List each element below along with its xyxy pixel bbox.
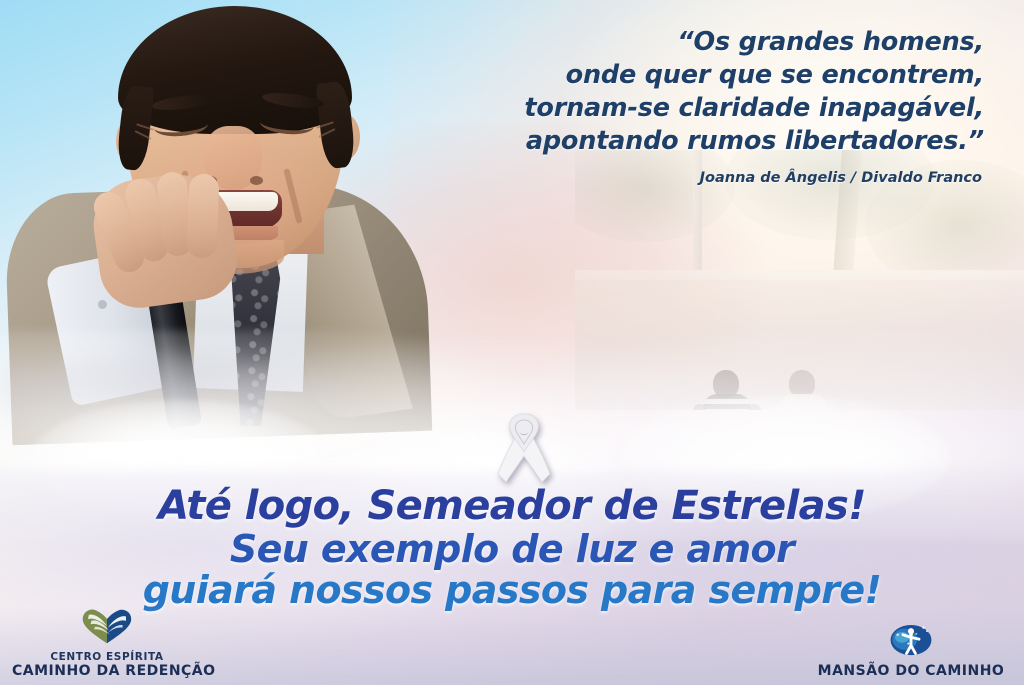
scene-foliage <box>575 150 735 242</box>
headline-line-2: Seu exemplo de luz e amor <box>0 530 1024 569</box>
quote-text: “Os grandes homens, onde quer que se enc… <box>424 26 984 159</box>
hands-heart-icon <box>12 607 202 649</box>
logo-centro-espirita[interactable]: CENTRO ESPÍRITA CAMINHO DA REDENÇÃO <box>12 607 202 679</box>
portrait-hair <box>118 6 352 134</box>
quote-author: Joanna de Ângelis / Divaldo Franco <box>700 170 982 186</box>
quote-line-3: tornam-se claridade inapagável, <box>424 92 984 125</box>
globe-figure-flame-icon <box>806 616 1016 661</box>
logo-left-line-2: CAMINHO DA REDENÇÃO <box>12 663 202 679</box>
headline-line-3: guiará nossos passos para sempre! <box>0 571 1024 610</box>
quote-line-4: apontando rumos libertadores.” <box>424 125 984 158</box>
quote-line-1: “Os grandes homens, <box>424 26 984 59</box>
logo-right-line-1: MANSÃO DO CAMINHO <box>806 663 1016 679</box>
headline: Até logo, Semeador de Estrelas! Seu exem… <box>0 486 1024 609</box>
headline-line-1: Até logo, Semeador de Estrelas! <box>0 486 1024 527</box>
memorial-poster: “Os grandes homens, onde quer que se enc… <box>0 0 1024 685</box>
portrait-nostril-right <box>250 176 263 185</box>
white-mourning-ribbon-icon <box>492 408 556 488</box>
portrait-cuff-button <box>98 300 107 309</box>
portrait-finger <box>187 174 220 259</box>
quote-line-2: onde quer que se encontrem, <box>424 59 984 92</box>
logo-mansao-do-caminho[interactable]: MANSÃO DO CAMINHO <box>806 616 1016 679</box>
logo-left-line-1: CENTRO ESPÍRITA <box>12 651 202 663</box>
